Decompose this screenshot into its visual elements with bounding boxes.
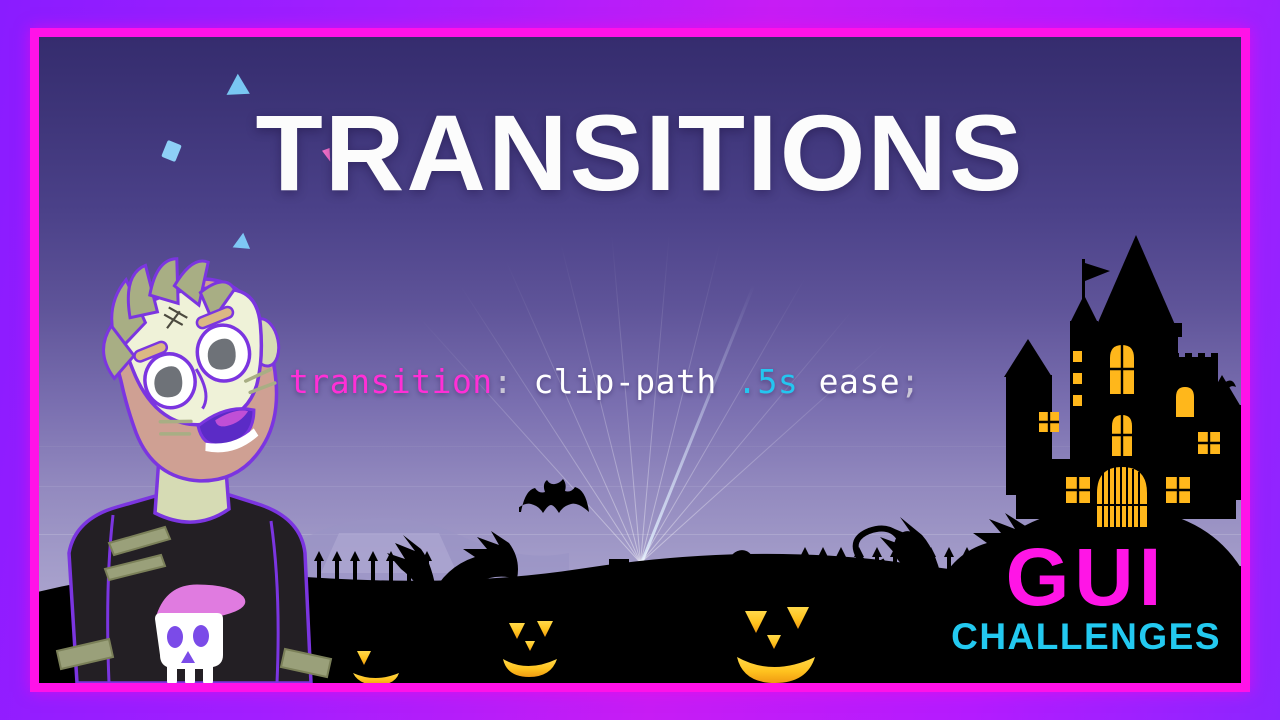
code-property: transition <box>289 362 493 401</box>
logo-gui-text: GUI <box>951 539 1221 616</box>
presenter-avatar <box>47 253 337 683</box>
code-value: clip-path <box>533 362 716 401</box>
jack-o-lantern-left <box>487 599 579 683</box>
logo-challenges-text: CHALLENGES <box>951 620 1221 655</box>
avatar-head <box>87 253 303 497</box>
thumbnail-stage: TRANSITIONS transition: clip-path .5s ea… <box>0 0 1280 720</box>
code-easing: ease <box>819 362 900 401</box>
jack-o-lantern-far-left <box>339 617 413 683</box>
code-duration: .5s <box>737 362 798 401</box>
page-title: TRANSITIONS <box>39 99 1241 207</box>
code-colon: : <box>493 362 513 401</box>
series-logo: GUI CHALLENGES <box>951 539 1221 655</box>
halloween-scene: TRANSITIONS transition: clip-path .5s ea… <box>39 37 1241 683</box>
neon-frame-border: TRANSITIONS transition: clip-path .5s ea… <box>30 28 1250 692</box>
code-snippet: transition: clip-path .5s ease; <box>289 362 920 401</box>
code-semicolon: ; <box>900 362 920 401</box>
